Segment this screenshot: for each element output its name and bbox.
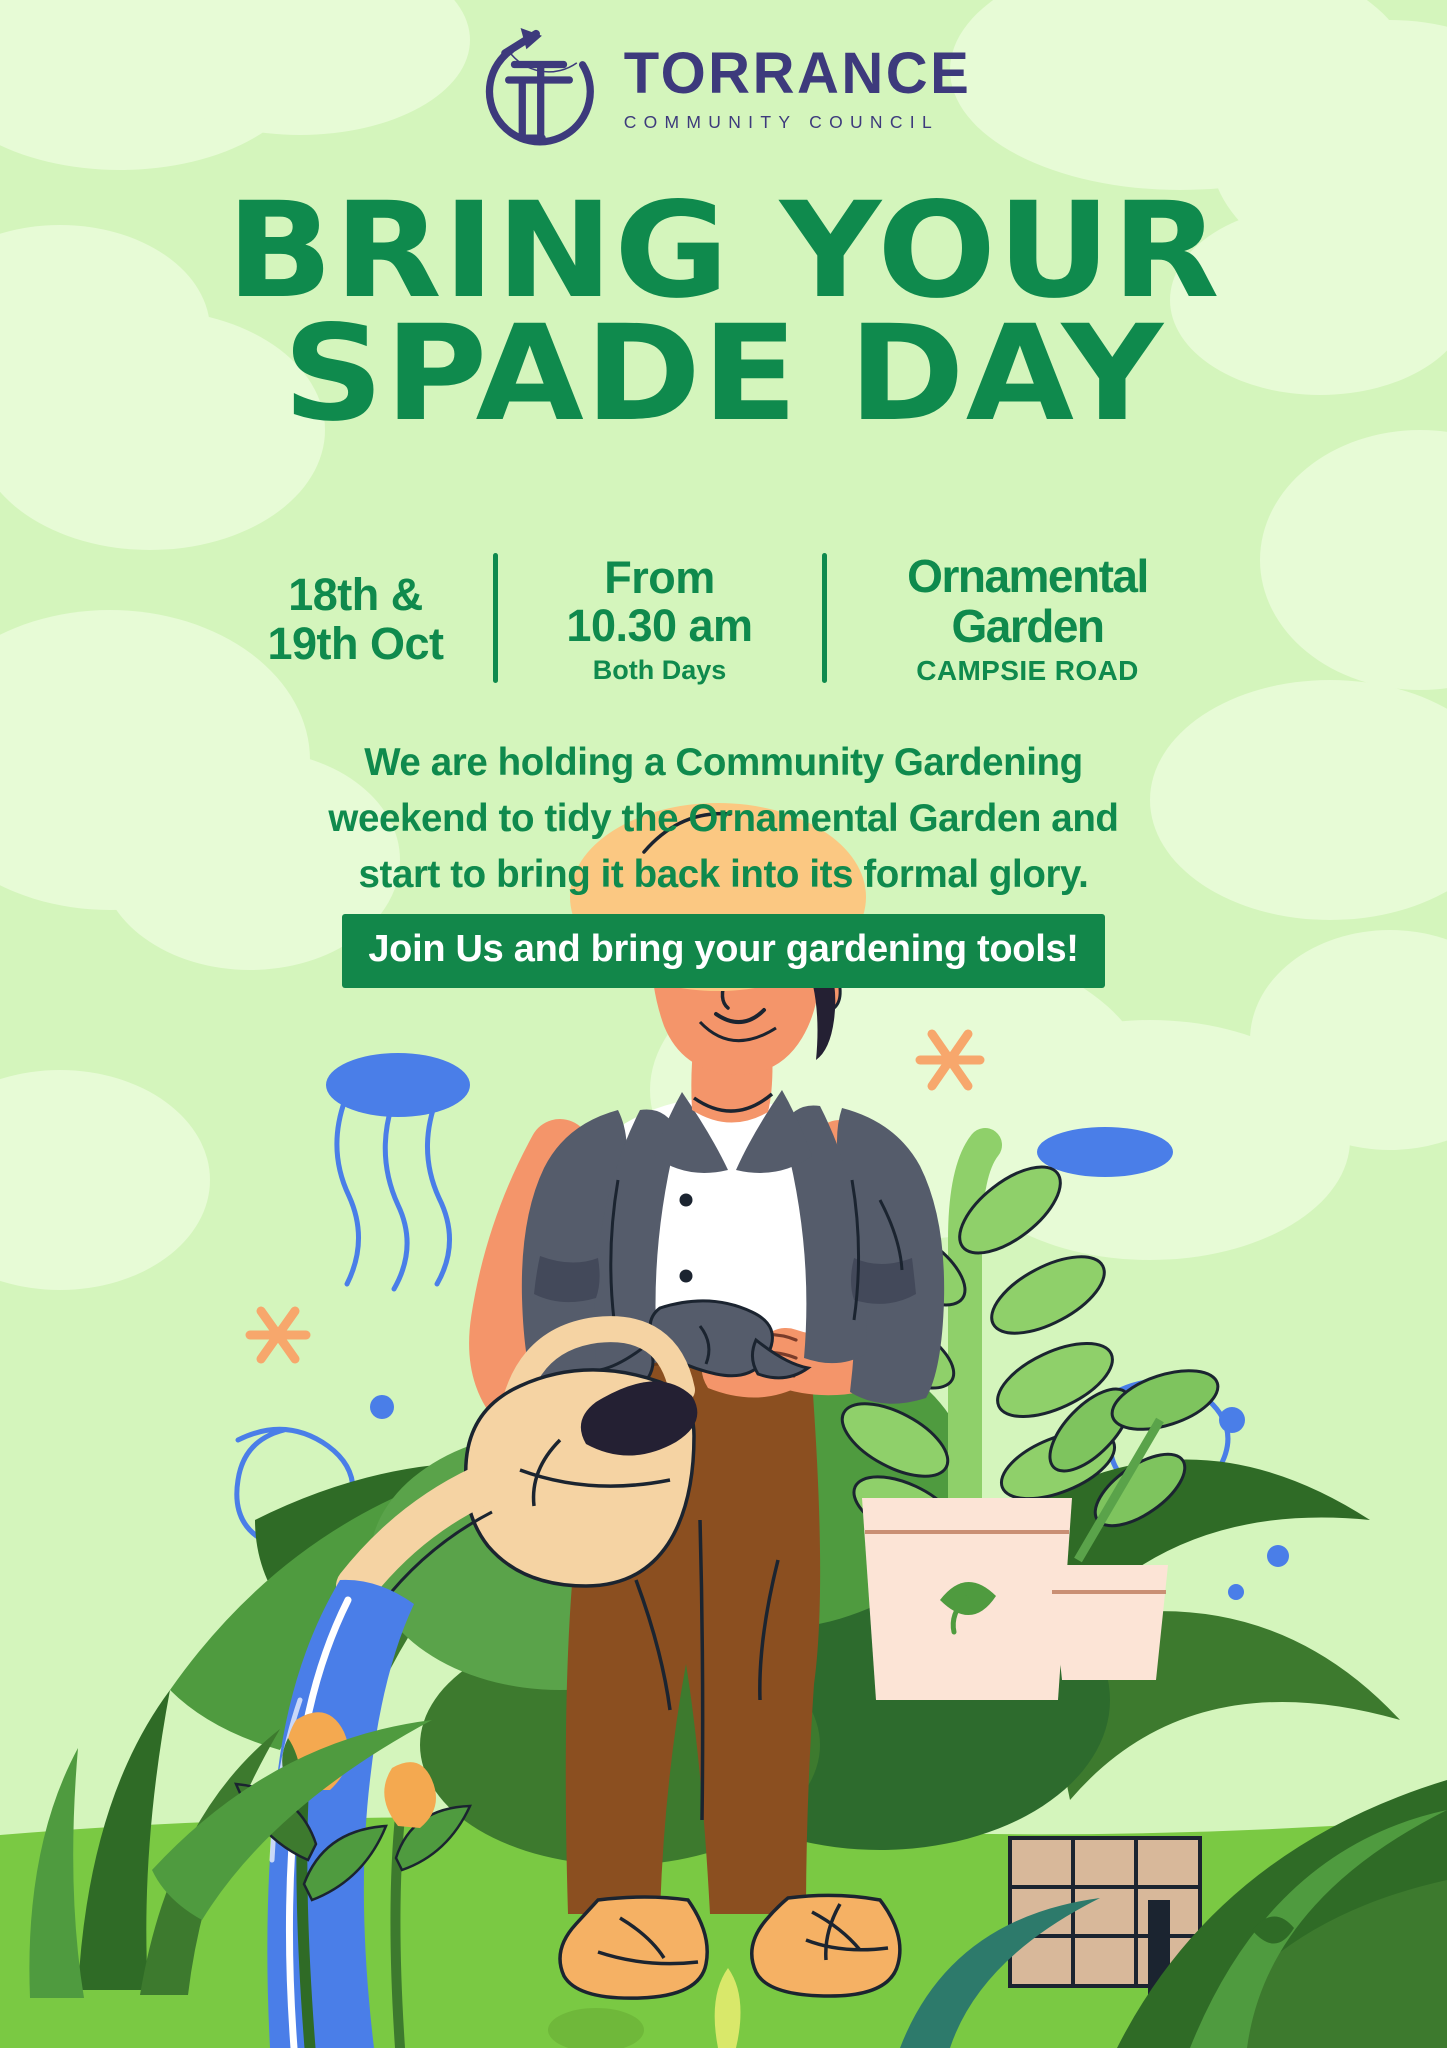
logo-title: TORRANCE [624, 45, 972, 103]
body-line-1: We are holding a Community Gardening [0, 735, 1447, 791]
headline-line-1: BRING YOUR [0, 188, 1447, 315]
body-paragraph: We are holding a Community Gardening wee… [0, 735, 1447, 904]
page-title: BRING YOUR SPADE DAY [0, 188, 1447, 437]
poster-canvas: TORRANCE COMMUNITY COUNCIL BRING YOUR SP… [0, 0, 1447, 2048]
dates-line-1: 18th & [245, 571, 467, 620]
logo-header: TORRANCE COMMUNITY COUNCIL [0, 26, 1447, 152]
divider-2 [822, 553, 827, 683]
time-line-2: 10.30 am [524, 602, 796, 651]
info-column-location: Ornamental Garden CAMPSIE ROAD [839, 545, 1217, 695]
event-info-row: 18th & 19th Oct From 10.30 am Both Days … [0, 545, 1447, 695]
blue-dot-4 [1228, 1584, 1244, 1600]
info-column-dates: 18th & 19th Oct [231, 545, 481, 695]
info-column-time: From 10.30 am Both Days [510, 545, 810, 695]
time-note: Both Days [524, 654, 796, 686]
dates-line-2: 19th Oct [245, 620, 467, 669]
divider-1 [493, 553, 498, 683]
blue-blob-left [326, 1053, 470, 1117]
cta-banner: Join Us and bring your gardening tools! [342, 914, 1104, 988]
headline-line-2: SPADE DAY [0, 311, 1447, 438]
logo-subtitle: COMMUNITY COUNCIL [624, 112, 972, 133]
cta-banner-wrap: Join Us and bring your gardening tools! [0, 914, 1447, 988]
body-line-2: weekend to tidy the Ornamental Garden an… [0, 791, 1447, 847]
location-line-1: Ornamental [849, 552, 1207, 602]
blue-dot-1 [370, 1395, 394, 1419]
location-line-2: Garden [849, 602, 1207, 652]
blue-blob-right [1037, 1127, 1173, 1177]
torrance-t-circle-arrow-icon [476, 26, 602, 152]
body-line-3: start to bring it back into its formal g… [0, 847, 1447, 903]
blue-dot-2 [1219, 1407, 1245, 1433]
location-road: CAMPSIE ROAD [849, 654, 1207, 688]
blue-dot-3 [1267, 1545, 1289, 1567]
time-line-1: From [524, 554, 796, 603]
